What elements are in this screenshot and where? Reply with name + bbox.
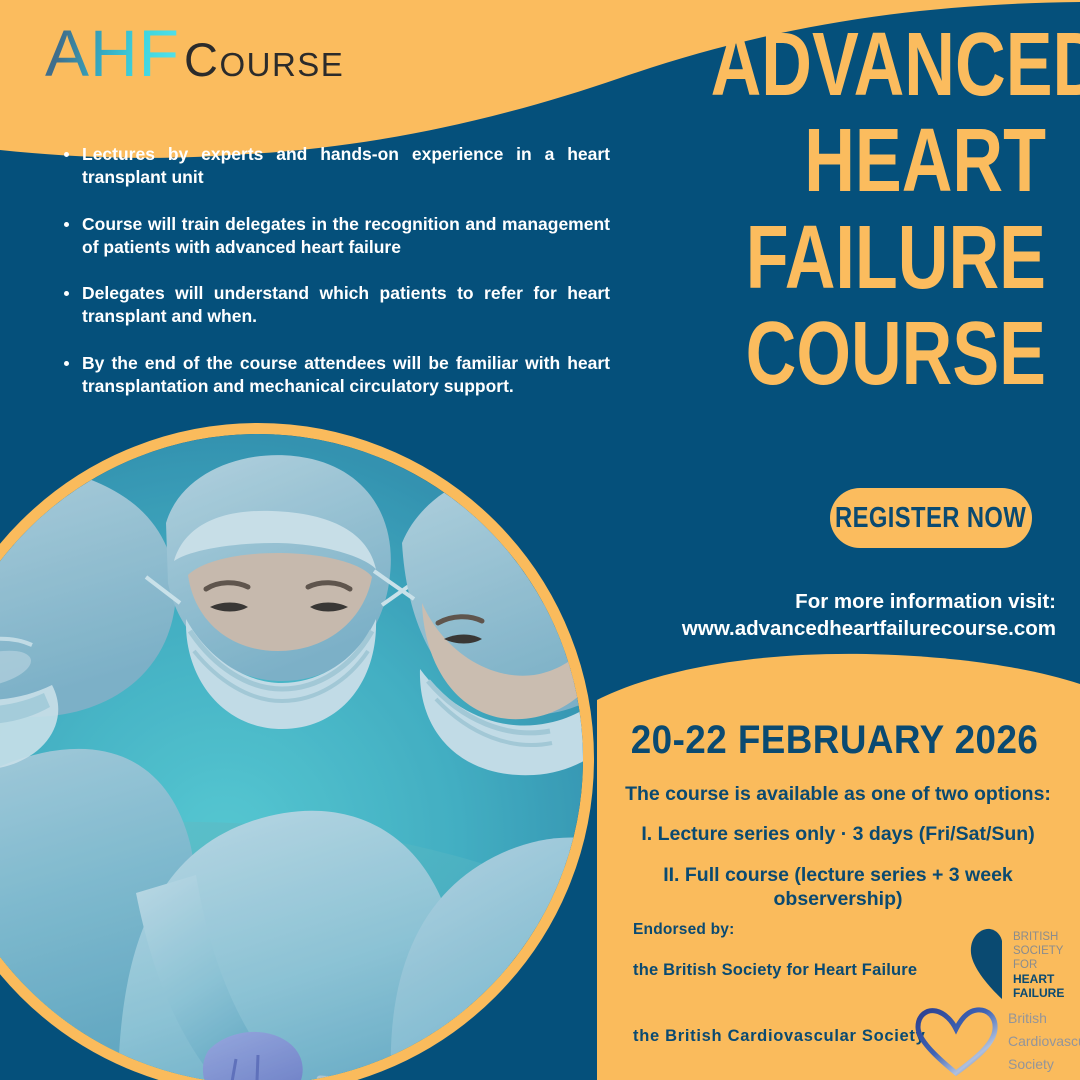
course-date-text: 20-22 FEBRUARY 2026 <box>631 718 1039 763</box>
bcs-line-2: Cardiovascular <box>1008 1033 1080 1049</box>
list-item: Course will train delegates in the recog… <box>60 213 610 260</box>
bcs-heart-outline-icon <box>918 1010 995 1073</box>
course-highlights-list: Lectures by experts and hands-on experie… <box>60 143 610 398</box>
course-date: 20-22 FEBRUARY 2026 <box>600 718 1070 763</box>
more-information: For more information visit: www.advanced… <box>536 588 1056 643</box>
bsh-line-3: FOR <box>1013 959 1037 971</box>
title-line-4: COURSE <box>711 311 1046 397</box>
bullet-text-2: Course will train delegates in the recog… <box>82 213 610 260</box>
bsh-logo: BRITISH SOCIETY FOR HEART FAILURE <box>968 925 1076 1001</box>
bsh-line-2: SOCIETY <box>1013 945 1064 957</box>
logo-course-word: Course <box>184 36 344 83</box>
bsh-line-5: FAILURE <box>1013 986 1064 1000</box>
register-now-label: REGISTER NOW <box>835 502 1026 535</box>
option-two: II. Full course (lecture series + 3 week… <box>600 863 1076 912</box>
bullet-text-3: Delegates will understand which patients… <box>82 282 610 329</box>
logo-ahf-mark: AHF <box>45 20 180 86</box>
register-now-button[interactable]: REGISTER NOW <box>830 488 1032 548</box>
endorsing-org-bcs: the British Cardiovascular Society <box>633 1027 925 1046</box>
title-line-2: HEART <box>711 118 1046 204</box>
course-options: The course is available as one of two op… <box>600 782 1076 912</box>
bcs-logo: British Cardiovascular Society <box>912 1005 1080 1079</box>
options-intro: The course is available as one of two op… <box>600 782 1076 806</box>
bcs-line-1: British <box>1008 1010 1047 1026</box>
brand-logo: AHF Course <box>45 20 344 86</box>
endorsed-by-label: Endorsed by: <box>633 921 734 939</box>
bsh-line-4: HEART <box>1013 972 1055 986</box>
bullet-text-4: By the end of the course attendees will … <box>82 352 610 399</box>
bullet-text-1: Lectures by experts and hands-on experie… <box>82 143 610 190</box>
list-item: Lectures by experts and hands-on experie… <box>60 143 610 190</box>
list-item: Delegates will understand which patients… <box>60 282 610 329</box>
title-line-1: ADVANCED <box>711 22 1046 108</box>
title-line-3: FAILURE <box>711 215 1046 301</box>
bcs-line-3: Society <box>1008 1056 1054 1072</box>
list-item: By the end of the course attendees will … <box>60 352 610 399</box>
bsh-line-1: BRITISH <box>1013 931 1058 943</box>
info-prompt: For more information visit: <box>795 590 1056 613</box>
endorsing-org-bsh: the British Society for Heart Failure <box>633 961 917 980</box>
option-one: I. Lecture series only · 3 days (Fri/Sat… <box>600 822 1076 846</box>
bsh-half-heart-icon <box>971 929 1002 999</box>
website-url[interactable]: www.advancedheartfailurecourse.com <box>536 615 1056 642</box>
page-title: ADVANCED HEART FAILURE COURSE <box>616 22 1046 408</box>
poster-canvas: AHF Course Lectures by experts and hands… <box>0 0 1080 1080</box>
